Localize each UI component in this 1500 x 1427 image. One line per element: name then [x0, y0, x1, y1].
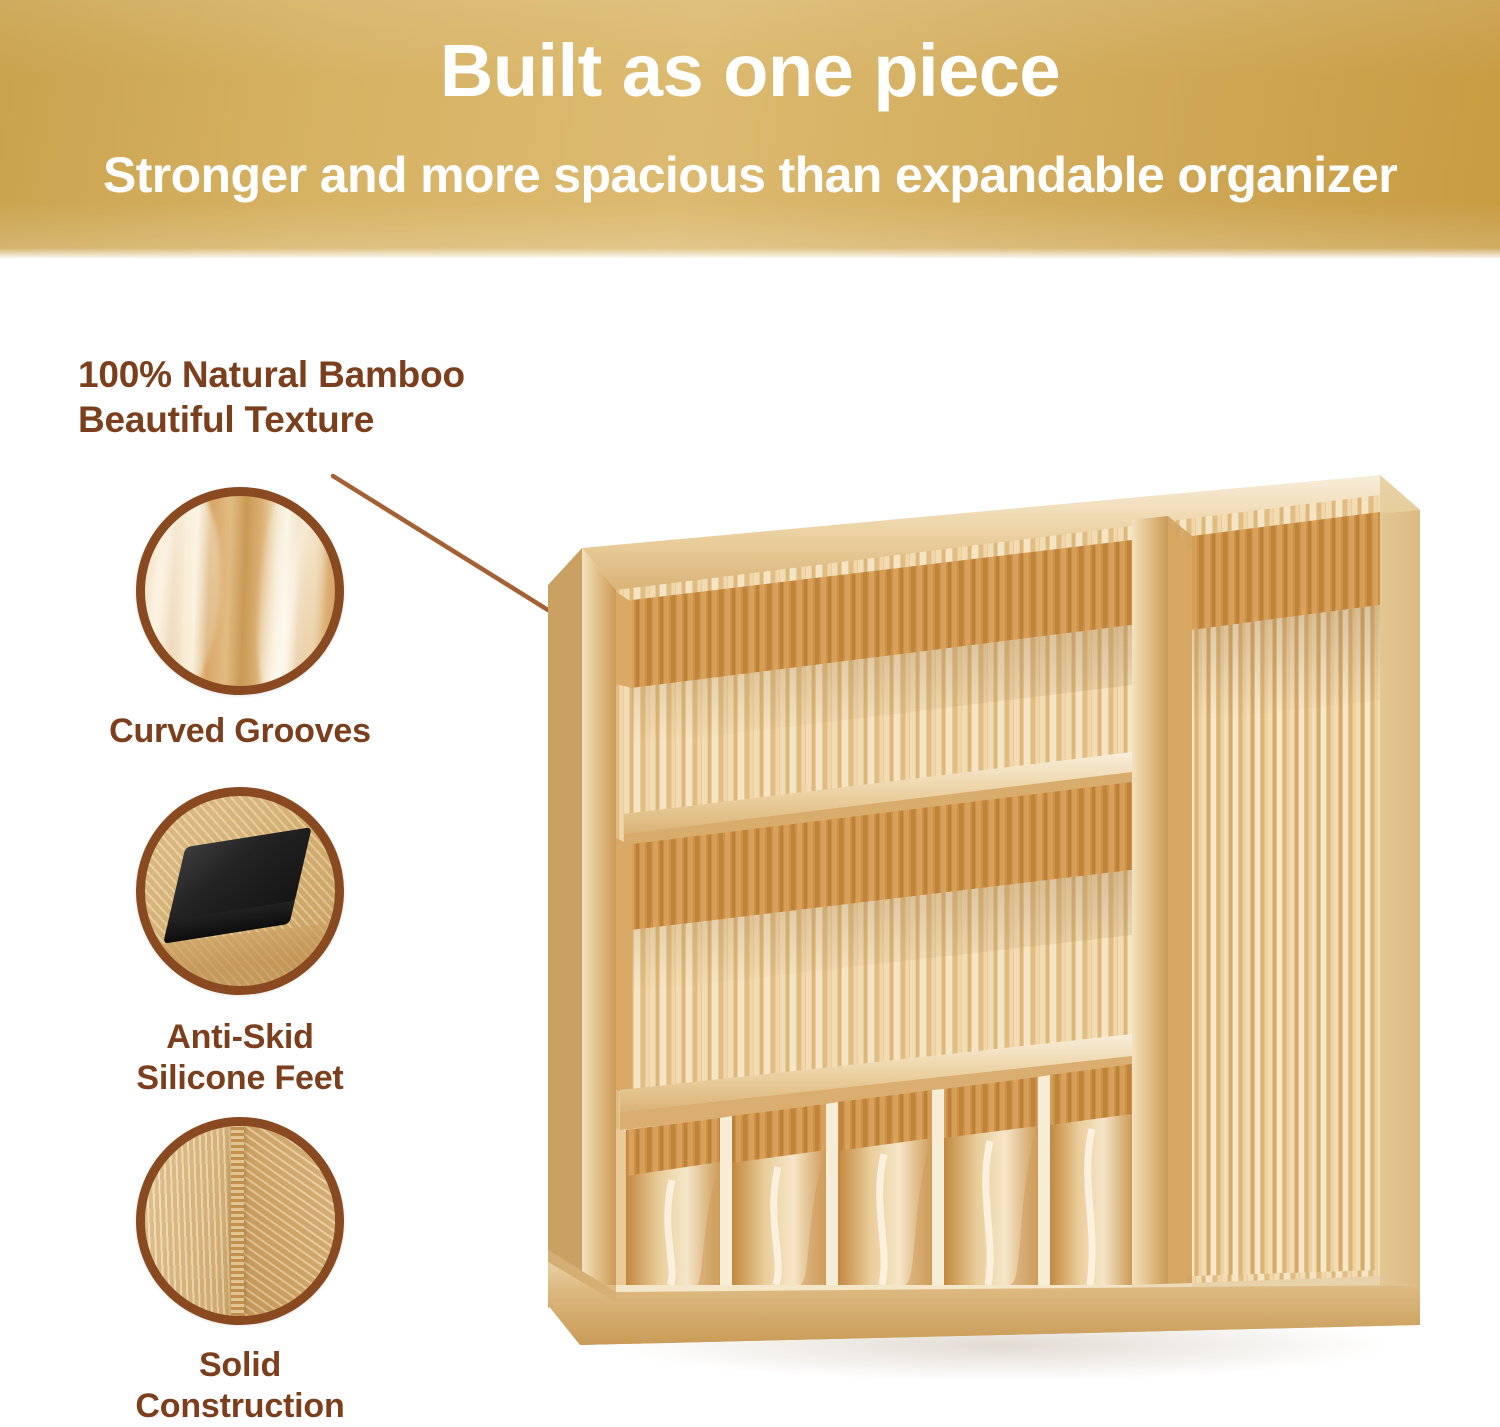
corner-joint-icon	[136, 1117, 344, 1325]
bamboo-callout-line1: 100% Natural Bamboo	[78, 352, 465, 397]
joint-seam	[231, 1126, 244, 1316]
feature-anti-skid-label: Anti-Skid Silicone Feet	[0, 1017, 480, 1099]
bamboo-callout-heading: 100% Natural Bamboo Beautiful Texture	[78, 352, 465, 442]
feature-label-line2: Silicone Feet	[0, 1058, 480, 1099]
feature-curved-grooves: Curved Grooves	[0, 487, 480, 752]
bamboo-callout-line2: Beautiful Texture	[78, 397, 465, 442]
feature-label-line1: Curved Grooves	[0, 711, 480, 752]
tray-illustration	[520, 440, 1460, 1380]
banner-subtitle: Stronger and more spacious than expandab…	[0, 150, 1500, 200]
banner-title: Built as one piece	[0, 34, 1500, 108]
feature-label-line1: Anti-Skid	[0, 1017, 480, 1058]
header-banner: Built as one piece Stronger and more spa…	[0, 0, 1500, 258]
feature-solid-construction: Solid Construction	[0, 1117, 480, 1427]
curved-grooves-icon	[136, 487, 344, 695]
feature-label-line2: Construction	[0, 1386, 480, 1427]
feature-curved-grooves-label: Curved Grooves	[0, 711, 480, 752]
silicone-pad	[163, 827, 312, 944]
feature-solid-construction-label: Solid Construction	[0, 1345, 480, 1427]
joint-face-left	[145, 1126, 234, 1316]
feature-anti-skid-silicone-feet: Anti-Skid Silicone Feet	[0, 787, 480, 1099]
product-image-bamboo-drawer-organizer	[520, 440, 1460, 1380]
joint-face-right	[234, 1126, 335, 1316]
product-infographic: Built as one piece Stronger and more spa…	[0, 0, 1500, 1427]
feature-label-line1: Solid	[0, 1345, 480, 1386]
silicone-foot-icon	[136, 787, 344, 995]
